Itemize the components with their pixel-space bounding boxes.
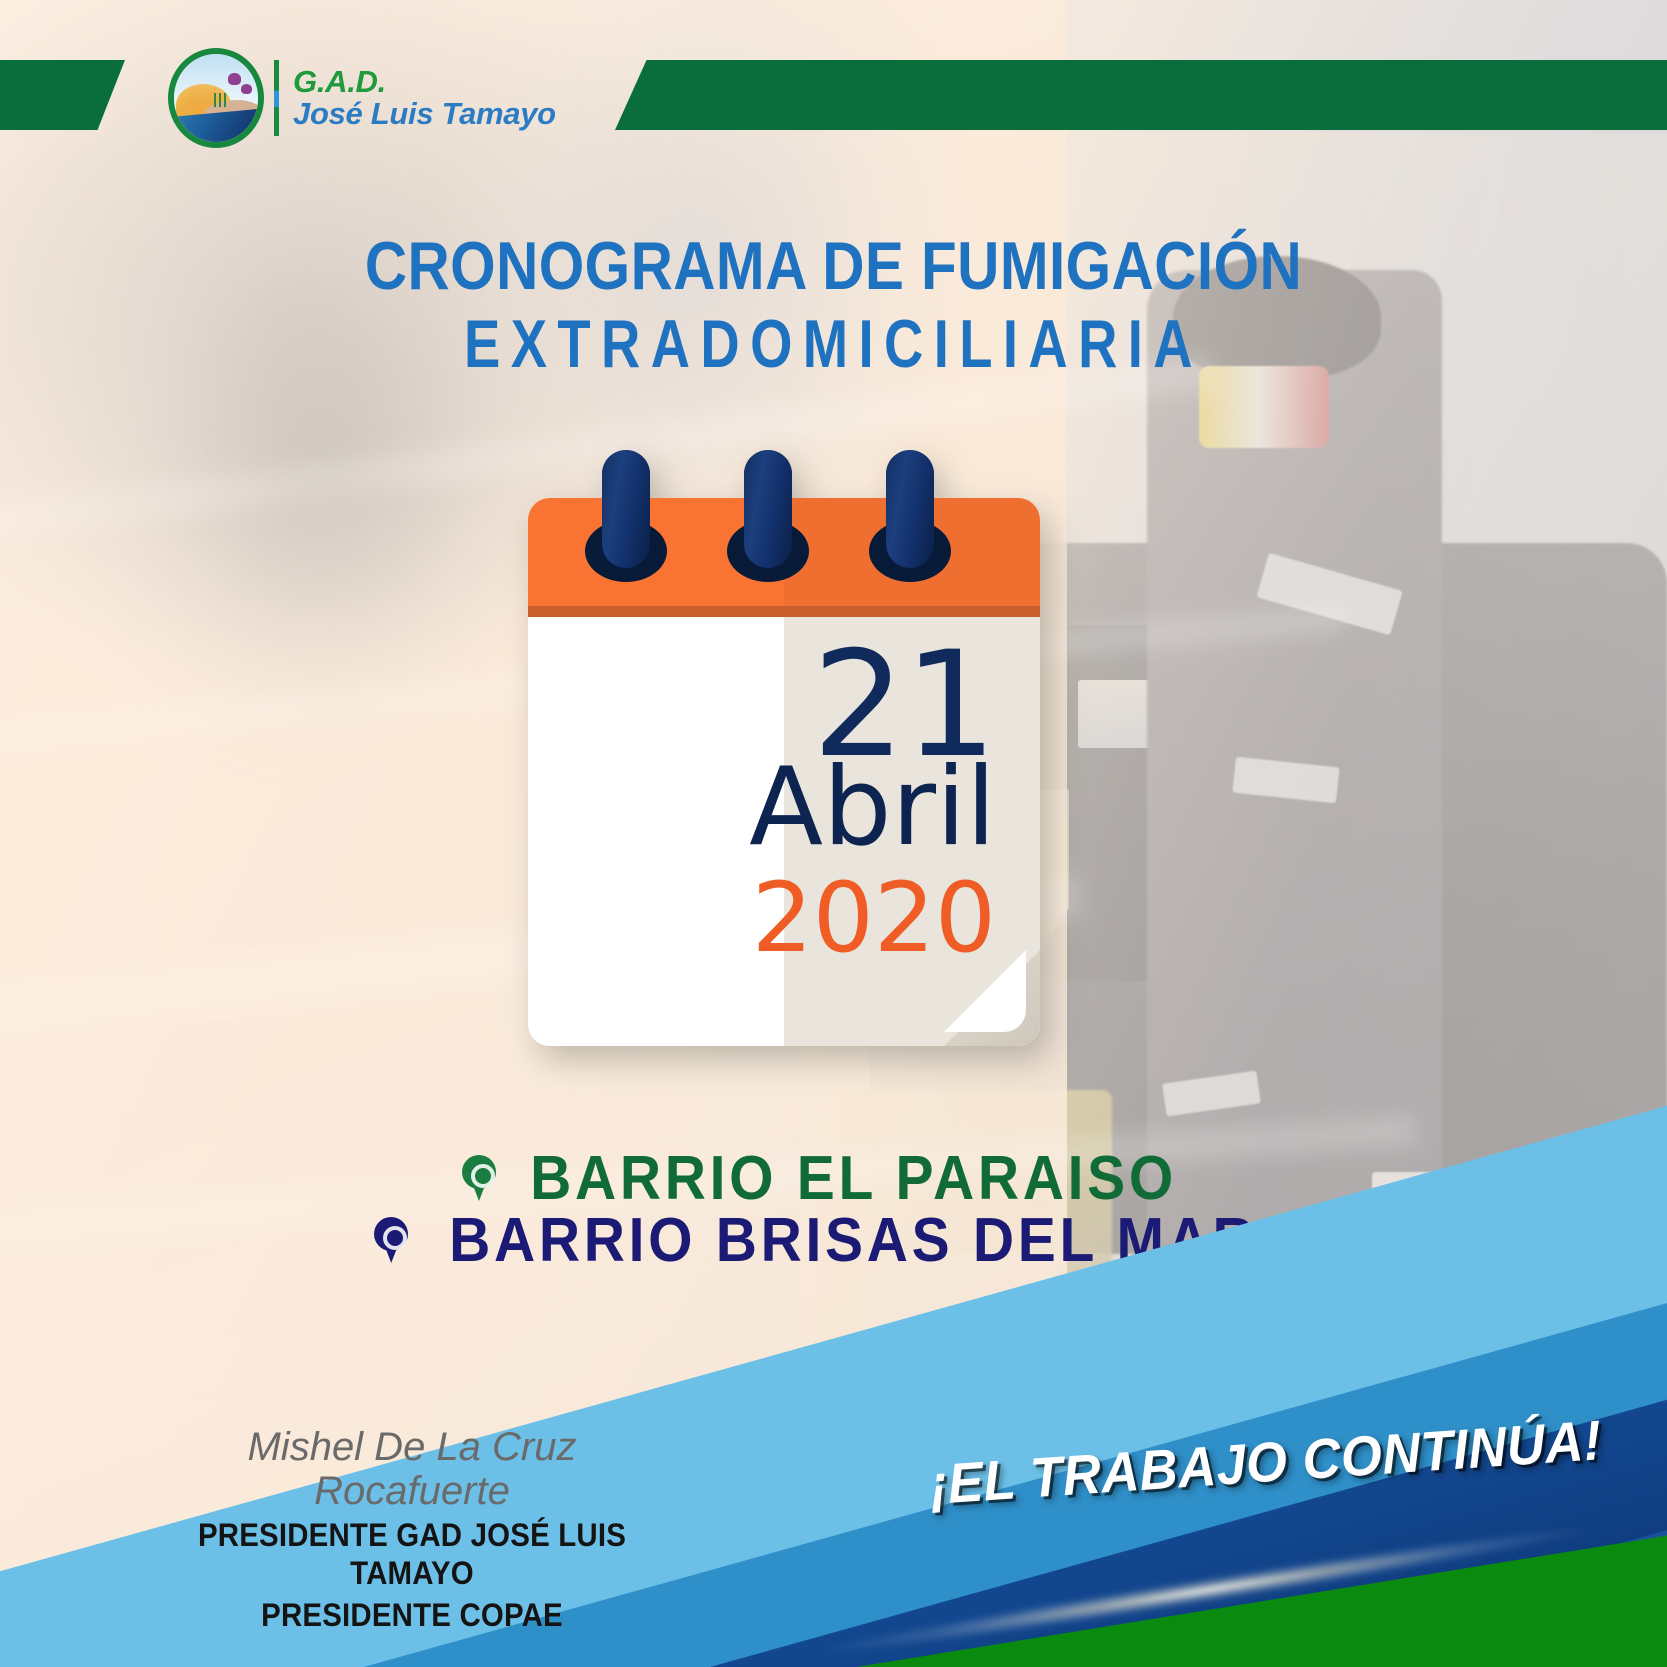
calendar-icon: 21 Abril 2020	[528, 498, 1040, 1046]
header-band-left	[0, 60, 125, 130]
title-line-1: CRONOGRAMA DE FUMIGACIÓN	[117, 232, 1551, 300]
gad-logo: G.A.D. José Luis Tamayo	[168, 48, 556, 148]
page-title: CRONOGRAMA DE FUMIGACIÓN EXTRADOMICILIAR…	[0, 232, 1667, 382]
calendar-ring-peg-front	[744, 450, 792, 568]
logo-text: G.A.D. José Luis Tamayo	[293, 66, 556, 130]
calendar-rings	[528, 450, 1040, 610]
logo-ring	[168, 48, 264, 148]
signature-block: Mishel De La Cruz Rocafuerte PRESIDENTE …	[152, 1425, 672, 1634]
logo-grass	[214, 93, 227, 107]
calendar-ring-peg-front	[602, 450, 650, 568]
logo-flower	[228, 73, 241, 84]
calendar-month: Abril	[528, 758, 996, 857]
signature-role-line-2: PRESIDENTE COPAE	[173, 1597, 651, 1635]
logo-line-name: José Luis Tamayo	[293, 98, 556, 130]
calendar-ring-peg-front	[886, 450, 934, 568]
gad-emblem-logo-icon	[168, 48, 264, 148]
title-line-2: EXTRADOMICILIARIA	[167, 306, 1501, 382]
header-band-right	[615, 60, 1667, 130]
calendar-ring	[744, 450, 792, 568]
calendar-date-text: 21 Abril 2020	[528, 638, 996, 966]
signature-role-line-1: PRESIDENTE GAD JOSÉ LUIS TAMAYO	[173, 1517, 651, 1593]
poster-canvas: G.A.D. José Luis Tamayo CRONOGRAMA DE FU…	[0, 0, 1667, 1667]
calendar-ring	[886, 450, 934, 568]
logo-flower	[241, 84, 252, 94]
logo-line-gad: G.A.D.	[293, 66, 556, 98]
logo-divider	[274, 60, 279, 136]
signature-name: Mishel De La Cruz Rocafuerte	[152, 1425, 672, 1513]
calendar-year: 2020	[528, 870, 996, 966]
calendar-ring	[602, 450, 650, 568]
